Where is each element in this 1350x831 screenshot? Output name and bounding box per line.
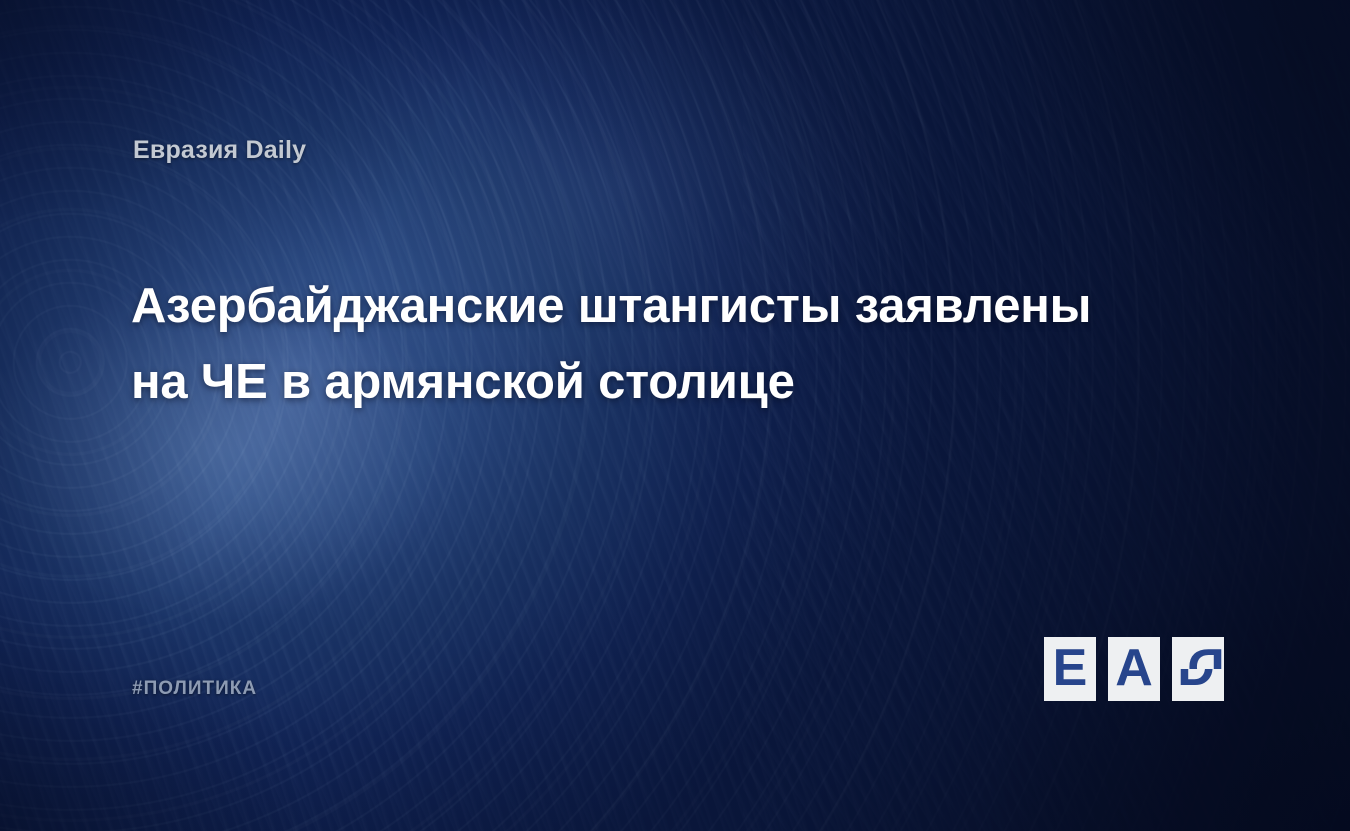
ead-logo-letter-a: A [1108, 637, 1160, 701]
card-content: Евразия Daily Азербайджанские штангисты … [0, 0, 1350, 831]
ead-logo[interactable]: E A D D [1044, 637, 1224, 701]
ead-logo-letter-d-top: D [1180, 637, 1224, 669]
ead-logo-tile-d-bottom-half: D [1172, 669, 1224, 701]
ead-logo-tile-a: A [1108, 637, 1160, 701]
ead-logo-letter-d-bottom: D [1172, 669, 1222, 701]
ead-logo-tile-d: D D [1172, 637, 1224, 701]
ead-logo-letter-e: E [1044, 637, 1096, 701]
category-hashtag[interactable]: #ПОЛИТИКА [132, 678, 257, 700]
headline-line-2: на ЧЕ в армянской столице [131, 344, 1236, 420]
brand-wordmark[interactable]: Евразия Daily [133, 136, 306, 165]
page-title: Азербайджанские штангисты заявлены на ЧЕ… [131, 268, 1236, 420]
ead-logo-tile-d-top-half: D [1172, 637, 1224, 669]
news-share-card: Евразия Daily Азербайджанские штангисты … [0, 0, 1350, 831]
ead-logo-tile-e: E [1044, 637, 1096, 701]
headline-line-1: Азербайджанские штангисты заявлены [131, 268, 1236, 344]
